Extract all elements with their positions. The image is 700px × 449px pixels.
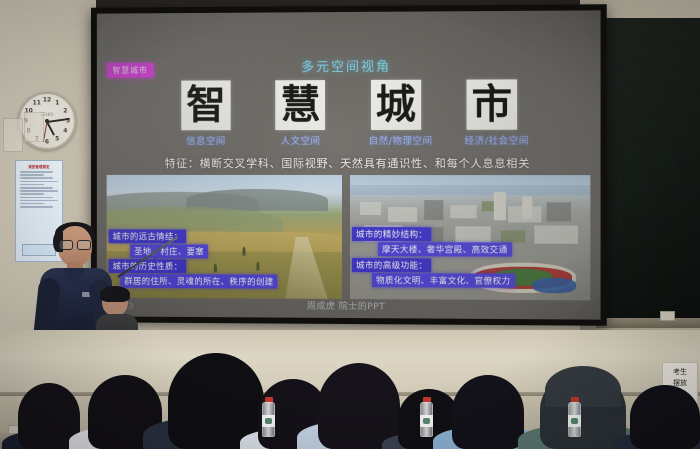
- character-label-3: 自然/物理空间: [369, 133, 423, 147]
- left-caption-2: 圣地、村庄、要塞: [130, 244, 208, 258]
- projection-screen-frame: 智慧城市 多元空间视角 智 信息空间 慧 人文空间: [91, 4, 607, 326]
- clock-num-1: 1: [55, 99, 59, 106]
- character-label-1: 信息空间: [179, 133, 232, 147]
- slide-feature-text: 特征：横断交叉学科、国际视野、天然具有通识性、和每个人息息相关: [97, 155, 601, 171]
- chalk-tray: [596, 318, 700, 328]
- water-bottle: [262, 397, 275, 437]
- clock-num-4: 4: [63, 128, 67, 135]
- second-person-hair: [100, 286, 130, 302]
- character-cell-2: 慧 人文空间: [274, 80, 328, 147]
- audience-member: [318, 363, 400, 449]
- cap-brim: [542, 407, 625, 419]
- water-bottle: [420, 397, 433, 437]
- slide-photo-cityscape: 城市的精妙结构： 摩天大楼、奢华宫殿、高效交通 城市的高级功能： 物质化文明、丰…: [350, 175, 590, 300]
- poster-title: 课堂管理规定: [19, 164, 59, 169]
- clock-center-pin: [45, 119, 49, 123]
- calligraphy-glyph-cheng: 城: [376, 85, 416, 125]
- character-box-3: 城: [371, 80, 421, 130]
- audience-member-with-cap: [540, 371, 626, 449]
- wall-notice-small-a: [3, 118, 23, 152]
- character-label-4: 经济/社会空间: [464, 133, 519, 147]
- clock-num-11: 11: [33, 99, 41, 106]
- audience-member: [452, 375, 524, 449]
- audience-row: [0, 339, 700, 449]
- calligraphy-glyph-hui: 慧: [281, 85, 321, 125]
- calligraphy-glyph-zhi: 智: [186, 85, 225, 125]
- character-label-2: 人文空间: [274, 133, 328, 147]
- right-caption-4: 物质化文明、丰富文化、官僚权力: [372, 273, 515, 288]
- right-caption-1: 城市的精妙结构：: [352, 227, 431, 241]
- character-box-1: 智: [181, 80, 230, 130]
- calligraphy-character-row: 智 信息空间 慧 人文空间 城 自然/物理空间: [179, 79, 519, 147]
- glasses-icon: [59, 240, 91, 248]
- eraser: [660, 311, 675, 321]
- character-box-4: 市: [467, 79, 518, 129]
- water-bottle: [568, 397, 581, 437]
- character-cell-1: 智 信息空间: [179, 80, 232, 147]
- presentation-slide: 智慧城市 多元空间视角 智 信息空间 慧 人文空间: [97, 10, 601, 319]
- right-caption-3: 城市的高级功能：: [352, 258, 431, 272]
- clock-num-12: 12: [43, 96, 51, 103]
- character-cell-3: 城 自然/物理空间: [369, 80, 423, 147]
- left-caption-4: 群居的住所、灵魂的所在、秩序的创建: [120, 274, 277, 289]
- clock-num-5: 5: [55, 136, 59, 143]
- clock-num-2: 2: [63, 107, 67, 114]
- slide-photo-countryside: 城市的远古情结： 圣地、村庄、要塞 城市的历史性质： 群居的住所、灵魂的所在、秩…: [107, 175, 342, 299]
- lecture-hall-photo: SEIKO 12 1 2 3 4 5 6 7 8 9 10 11 课堂管理规定: [0, 0, 700, 449]
- character-box-2: 慧: [276, 80, 326, 130]
- slide-credit-text: 周成虎 院士的PPT: [97, 298, 601, 314]
- projection-screen: 智慧城市 多元空间视角 智 信息空间 慧 人文空间: [97, 10, 601, 319]
- calligraphy-glyph-shi: 市: [472, 84, 512, 124]
- slide-photo-row: 城市的远古情结： 圣地、村庄、要塞 城市的历史性质： 群居的住所、灵魂的所在、秩…: [107, 175, 591, 300]
- slide-title: 多元空间视角: [97, 55, 601, 76]
- clock-num-6: 6: [45, 139, 49, 146]
- blackboard: [596, 18, 700, 318]
- wall-notice-small-b: [24, 112, 44, 142]
- audience-member: [630, 385, 700, 449]
- character-cell-4: 市 经济/社会空间: [464, 79, 519, 147]
- right-caption-2: 摩天大楼、奢华宫殿、高效交通: [378, 242, 512, 257]
